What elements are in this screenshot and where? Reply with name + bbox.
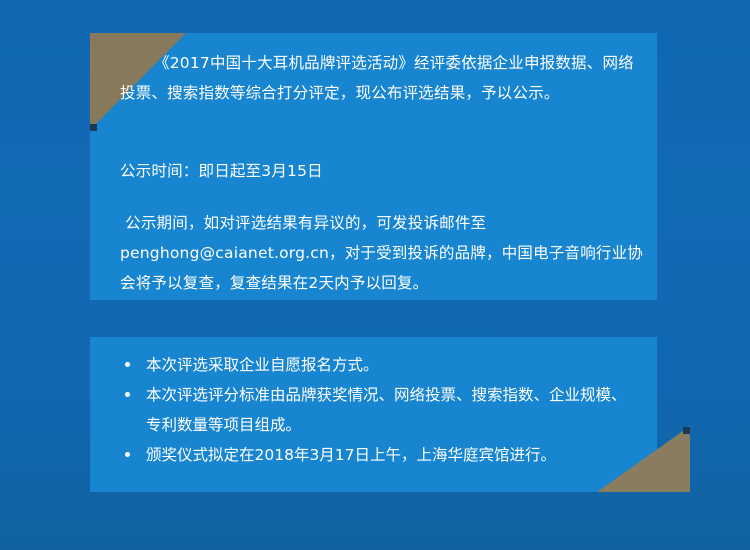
- corner-notch-bottom-right-icon: [683, 427, 690, 434]
- appeal-paragraph: 公示期间，如对评选结果有异议的，可发投诉邮件至 penghong@caianet…: [120, 208, 650, 298]
- list-item-label: 本次评选采取企业自愿报名方式。: [146, 356, 379, 374]
- poster-canvas: 《2017中国十大耳机品牌评选活动》经评委依据企业申报数据、网络投票、搜索指数等…: [0, 0, 750, 550]
- publicity-period-text: 公示时间：即日起至3月15日: [120, 156, 640, 186]
- list-item-label: 颁奖仪式拟定在2018年3月17日上午，上海华庭宾馆进行。: [146, 446, 556, 464]
- bullet-dot-icon: [125, 362, 130, 367]
- list-item: 本次评选评分标准由品牌获奖情况、网络投票、搜索指数、企业规模、专利数量等项目组成…: [120, 380, 640, 440]
- intro-paragraph: 《2017中国十大耳机品牌评选活动》经评委依据企业申报数据、网络投票、搜索指数等…: [120, 48, 640, 108]
- list-item: 本次评选采取企业自愿报名方式。: [120, 350, 640, 380]
- corner-notch-top-left-icon: [90, 124, 97, 131]
- bullet-dot-icon: [125, 392, 130, 397]
- list-item-label: 本次评选评分标准由品牌获奖情况、网络投票、搜索指数、企业规模、专利数量等项目组成…: [146, 386, 627, 434]
- rules-list: 本次评选采取企业自愿报名方式。 本次评选评分标准由品牌获奖情况、网络投票、搜索指…: [120, 350, 640, 470]
- list-item: 颁奖仪式拟定在2018年3月17日上午，上海华庭宾馆进行。: [120, 440, 640, 470]
- bullet-dot-icon: [125, 452, 130, 457]
